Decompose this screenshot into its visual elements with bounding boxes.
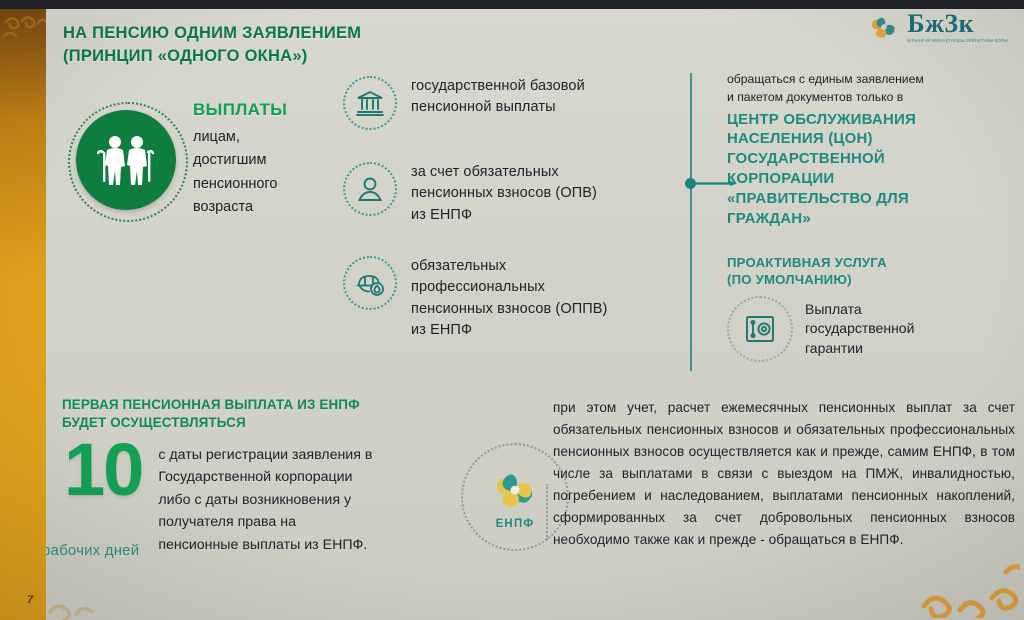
right-caps-line: ЦЕНТР ОБСЛУЖИВАНИЯ [727,110,1017,130]
title-line-2: (ПРИНЦИП «ОДНОГО ОКНА») [63,45,703,68]
proactive-service-block: ПРОАКТИВНАЯ УСЛУГА (ПО УМОЛЧАНИЮ) Вып [727,254,1017,362]
payouts-line: возраста [193,196,343,219]
vertical-divider [690,73,692,371]
days-unit-label: рабочих дней [42,542,139,559]
ornament-bottom-left-icon [44,580,104,620]
list-item: за счет обязательных пенсионных взносов … [343,162,597,226]
logo-tagline: БІРЫҢҒАЙ ЖИНАҚТАУШЫ ЗЕЙНЕТАҚЫ ҚОРЫ [907,39,1008,43]
right-intro-line: обращаться с единым заявлением [727,70,1017,88]
first-payment-line: с даты регистрации заявления в [158,444,372,466]
list-item-line: пенсионной выплаты [411,97,585,118]
list-item-line: пенсионных взносов (ОППВ) [411,299,607,320]
page-number: 7 [27,594,33,606]
list-item-line: профессиональных [411,277,607,298]
right-intro-line: и пакетом документов только в [727,88,1017,106]
page-title: НА ПЕНСИЮ ОДНИМ ЗАЯВЛЕНИЕМ (ПРИНЦИП «ОДН… [63,22,703,69]
list-item-line: за счет обязательных [411,162,597,183]
right-caps-line: ГОСУДАРСТВЕННОЙ [727,149,1017,169]
safe-vault-icon [727,296,793,362]
top-dark-strip [0,0,1024,9]
ornament-bottom-right-icon [910,548,1020,618]
days-number: 10 [64,438,142,502]
paragraph-dotted-accent [546,484,551,540]
proactive-label-line: государственной [805,319,914,339]
bank-icon [343,76,397,130]
list-item: обязательных профессиональных пенсионных… [343,256,607,342]
elderly-couple-badge [76,110,176,210]
first-payment-line: Государственной корпорации [158,466,372,488]
logo-wordmark: БжЗк [907,11,1008,37]
right-caps-line: НАСЕЛЕНИЯ (ЦОН) [727,129,1017,149]
enpf-caption: ЕНПФ [496,518,535,530]
left-gold-band: 7 [0,8,46,620]
elderly-couple-icon [94,128,158,192]
first-payment-line: либо с даты возникновения у [158,489,372,511]
enpf-pinwheel-logo-icon [489,464,541,516]
proactive-label-line: Выплата [805,300,914,320]
proactive-title-line: (ПО УМОЛЧАНИЮ) [727,271,1017,288]
title-line-1: НА ПЕНСИЮ ОДНИМ ЗАЯВЛЕНИЕМ [63,22,703,45]
first-payment-title-line: ПЕРВАЯ ПЕНСИОННАЯ ВЫПЛАТА ИЗ ЕНПФ [62,396,532,414]
list-item-line: из ЕНПФ [411,320,607,341]
list-item: государственной базовой пенсионной выпла… [343,76,585,130]
proactive-title-line: ПРОАКТИВНАЯ УСЛУГА [727,254,1017,271]
list-item-line: государственной базовой [411,76,585,97]
arrow-right-icon [694,181,738,186]
logo-swirl-icon [867,10,901,44]
list-item-line: из ЕНПФ [411,205,597,226]
bank-glyph-icon [355,88,385,118]
presentation-slide: 7 НА ПЕНСИЮ ОДНИМ ЗАЯВЛЕНИЕМ (ПРИНЦИП «О… [0,0,1024,620]
payouts-heading: ВЫПЛАТЫ [193,100,343,120]
hard-hat-icon [343,256,397,310]
payouts-block: ВЫПЛАТЫ лицам, достигшим пенсионного воз… [193,100,343,220]
first-payment-line: получателя права на [158,511,372,533]
bzhzk-logo: БжЗк БІРЫҢҒАЙ ЖИНАҚТАУШЫ ЗЕЙНЕТАҚЫ ҚОРЫ [867,10,1008,44]
person-glyph-icon [355,174,385,204]
right-caps-line: ГРАЖДАН» [727,209,1017,229]
hard-hat-glyph-icon [355,268,385,298]
ornament-top-left-icon [2,12,46,46]
payouts-line: достигшим [193,149,343,172]
proactive-label-line: гарантии [805,339,914,359]
person-icon [343,162,397,216]
right-caps-line: «ПРАВИТЕЛЬСТВО ДЛЯ [727,189,1017,209]
bottom-right-paragraph: при этом учет, расчет ежемесячных пенсио… [553,397,1015,551]
payouts-line: пенсионного [193,173,343,196]
first-payment-block: ПЕРВАЯ ПЕНСИОННАЯ ВЫПЛАТА ИЗ ЕНПФ БУДЕТ … [62,396,532,556]
right-caps-line: КОРПОРАЦИИ [727,169,1017,189]
list-item-line: обязательных [411,256,607,277]
right-column: обращаться с единым заявлением и пакетом… [727,70,1017,228]
list-item-line: пенсионных взносов (ОПВ) [411,183,597,204]
first-payment-line: пенсионные выплаты из ЕНПФ. [158,534,372,556]
safe-vault-glyph-icon [743,312,777,346]
payouts-line: лицам, [193,126,343,149]
